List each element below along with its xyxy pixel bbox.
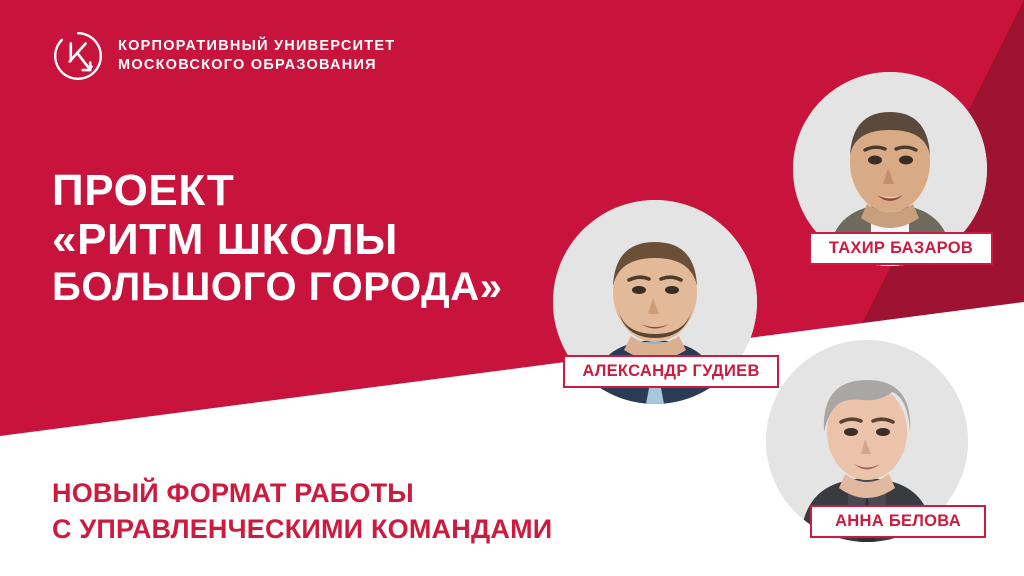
speaker-card-gudiev: АЛЕКСАНДР ГУДИЕВ <box>553 200 757 404</box>
subtitle: НОВЫЙ ФОРМАТ РАБОТЫ С УПРАВЛЕНЧЕСКИМИ КО… <box>52 476 552 548</box>
logo-text-line-2: МОСКОВСКОГО ОБРАЗОВАНИЯ <box>118 56 395 75</box>
speaker-card-belova: АННА БЕЛОВА <box>766 340 968 542</box>
circle-k-arrow-logo-icon <box>52 30 104 82</box>
brand-logo: КОРПОРАТИВНЫЙ УНИВЕРСИТЕТ МОСКОВСКОГО ОБ… <box>52 30 395 82</box>
promo-banner: КОРПОРАТИВНЫЙ УНИВЕРСИТЕТ МОСКОВСКОГО ОБ… <box>0 0 1024 576</box>
subtitle-line-2: С УПРАВЛЕНЧЕСКИМИ КОМАНДАМИ <box>52 512 552 548</box>
speaker-card-bazarov: ТАХИР БАЗАРОВ <box>793 72 987 266</box>
speaker-name-badge: АЛЕКСАНДР ГУДИЕВ <box>563 355 779 388</box>
headline-line-1: ПРОЕКТ <box>52 166 503 215</box>
speaker-name-badge: АННА БЕЛОВА <box>810 505 986 538</box>
logo-text-line-1: КОРПОРАТИВНЫЙ УНИВЕРСИТЕТ <box>118 37 395 56</box>
page-title: ПРОЕКТ «РИТМ ШКОЛЫ БОЛЬШОГО ГОРОДА» <box>52 166 503 309</box>
headline-line-2: «РИТМ ШКОЛЫ <box>52 215 503 264</box>
subtitle-line-1: НОВЫЙ ФОРМАТ РАБОТЫ <box>52 476 552 512</box>
speaker-name-badge: ТАХИР БАЗАРОВ <box>809 232 993 265</box>
headline-line-3: БОЛЬШОГО ГОРОДА» <box>52 265 503 310</box>
